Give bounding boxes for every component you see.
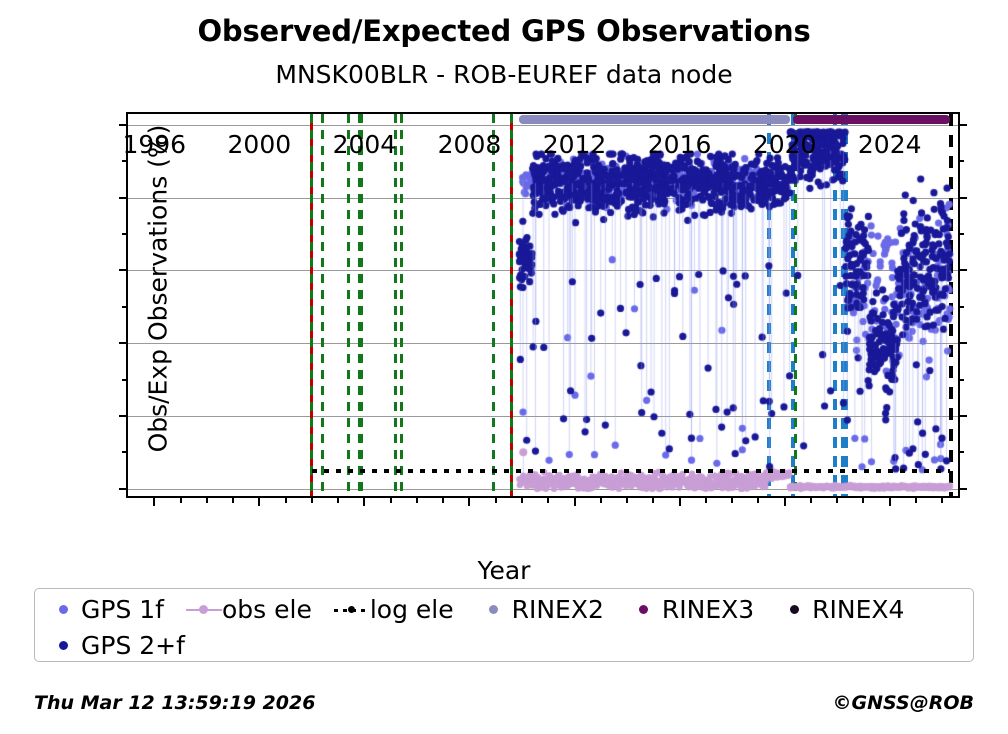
legend-item-rinex4[interactable]: RINEX4 xyxy=(776,595,904,624)
x-axis-tick xyxy=(468,496,470,506)
x-axis-tick xyxy=(784,496,786,506)
dot-marker xyxy=(476,598,512,622)
x-axis-tick xyxy=(679,496,681,506)
y-axis-tick-right xyxy=(958,415,967,417)
y-axis-minor-tick-right xyxy=(958,233,964,235)
timestamp-text: Thu Mar 12 13:59:19 2026 xyxy=(34,692,315,714)
scatter-points xyxy=(128,114,958,496)
y-axis-tick xyxy=(119,269,128,271)
x-axis-tick-label: 2016 xyxy=(620,130,740,159)
y-axis-minor-tick xyxy=(122,233,128,235)
y-axis-tick xyxy=(119,342,128,344)
x-axis-minor-tick xyxy=(495,496,497,503)
plot-area: 020406080100 199620002004200820122016202… xyxy=(126,112,960,498)
legend-item-rinex2[interactable]: RINEX2 xyxy=(476,595,604,624)
marker-dot xyxy=(489,605,498,614)
y-axis-tick xyxy=(119,124,128,126)
marker-dot xyxy=(639,605,648,614)
x-axis-minor-tick xyxy=(862,496,864,503)
x-axis-tick xyxy=(574,496,576,506)
x-axis-minor-tick xyxy=(180,496,182,503)
y-axis-tick-right xyxy=(958,197,967,199)
x-axis-minor-tick xyxy=(206,496,208,503)
chart-page: Observed/Expected GPS Observations MNSK0… xyxy=(0,0,1008,734)
line-dot-marker xyxy=(186,598,222,622)
x-axis-tick-label: 2012 xyxy=(515,130,635,159)
x-axis-minor-tick xyxy=(705,496,707,503)
x-axis-tick-label: 2004 xyxy=(304,130,424,159)
y-axis-minor-tick-right xyxy=(958,160,964,162)
y-axis-minor-tick xyxy=(122,306,128,308)
y-axis-tick xyxy=(119,488,128,490)
y-axis-minor-tick xyxy=(122,451,128,453)
legend-item-obs-ele[interactable]: obs ele xyxy=(186,595,312,624)
x-axis-minor-tick xyxy=(626,496,628,503)
x-axis-tick xyxy=(363,496,365,506)
x-axis-tick xyxy=(258,496,260,506)
y-axis-tick xyxy=(119,197,128,199)
x-axis-minor-tick xyxy=(757,496,759,503)
x-axis-minor-tick xyxy=(390,496,392,503)
marker-dot xyxy=(199,605,208,614)
y-axis-tick-right xyxy=(958,269,967,271)
legend-label: RINEX4 xyxy=(812,595,904,624)
x-axis-minor-tick xyxy=(311,496,313,503)
x-axis-tick xyxy=(889,496,891,506)
y-axis-tick-right xyxy=(958,342,967,344)
x-axis-minor-tick xyxy=(416,496,418,503)
y-axis-tick xyxy=(119,415,128,417)
legend-label: log ele xyxy=(370,595,454,624)
x-axis-minor-tick xyxy=(652,496,654,503)
x-axis-minor-tick xyxy=(941,496,943,503)
copyright-text: ©GNSS@ROB xyxy=(833,692,974,714)
y-axis-minor-tick-right xyxy=(958,451,964,453)
legend-label: GPS 1f xyxy=(81,595,164,624)
x-axis-tick-label: 2024 xyxy=(830,130,950,159)
x-axis-minor-tick xyxy=(285,496,287,503)
x-axis-minor-tick xyxy=(731,496,733,503)
plot-clip xyxy=(128,114,958,496)
legend-row-secondary: GPS 2+f xyxy=(45,631,207,660)
y-axis-label: Obs/Exp Observations (%) xyxy=(144,9,173,569)
legend-item-gps-2-f[interactable]: GPS 2+f xyxy=(45,631,185,660)
y-axis-tick-right xyxy=(958,124,967,126)
legend-item-rinex3[interactable]: RINEX3 xyxy=(626,595,754,624)
x-axis-minor-tick xyxy=(810,496,812,503)
x-axis-label: Year xyxy=(0,556,1008,585)
y-axis-tick-right xyxy=(958,488,967,490)
dot-marker xyxy=(45,634,81,658)
dot-marker xyxy=(45,598,81,622)
legend-label: RINEX3 xyxy=(662,595,754,624)
x-axis-minor-tick xyxy=(915,496,917,503)
log-ele-segment xyxy=(312,469,950,473)
x-axis-tick-label: 2008 xyxy=(409,130,529,159)
marker-dot xyxy=(59,641,68,650)
x-axis-minor-tick xyxy=(232,496,234,503)
y-axis-minor-tick xyxy=(122,379,128,381)
x-axis-minor-tick xyxy=(337,496,339,503)
x-axis-tick-label: 2000 xyxy=(199,130,319,159)
legend-item-gps-1f[interactable]: GPS 1f xyxy=(45,595,164,624)
dot-marker xyxy=(776,598,812,622)
x-axis-minor-tick xyxy=(547,496,549,503)
marker-dot xyxy=(348,606,355,613)
legend-label: GPS 2+f xyxy=(81,631,185,660)
legend-label: RINEX2 xyxy=(512,595,604,624)
y-axis-minor-tick-right xyxy=(958,306,964,308)
legend-item-log-ele[interactable]: log ele xyxy=(334,595,454,624)
y-axis-minor-tick-right xyxy=(958,379,964,381)
legend-label: obs ele xyxy=(222,595,312,624)
marker-dot xyxy=(790,605,799,614)
dotted-line-marker xyxy=(334,598,370,622)
x-axis-minor-tick xyxy=(600,496,602,503)
x-axis-minor-tick xyxy=(521,496,523,503)
marker-dot xyxy=(59,605,68,614)
x-axis-minor-tick xyxy=(836,496,838,503)
legend-row-primary: GPS 1fobs elelog eleRINEX2RINEX3RINEX4 xyxy=(45,595,926,624)
chart-legend: GPS 1fobs elelog eleRINEX2RINEX3RINEX4 G… xyxy=(34,588,974,662)
dot-marker xyxy=(626,598,662,622)
y-axis-minor-tick xyxy=(122,160,128,162)
x-axis-tick-label: 2020 xyxy=(725,130,845,159)
x-axis-minor-tick xyxy=(442,496,444,503)
